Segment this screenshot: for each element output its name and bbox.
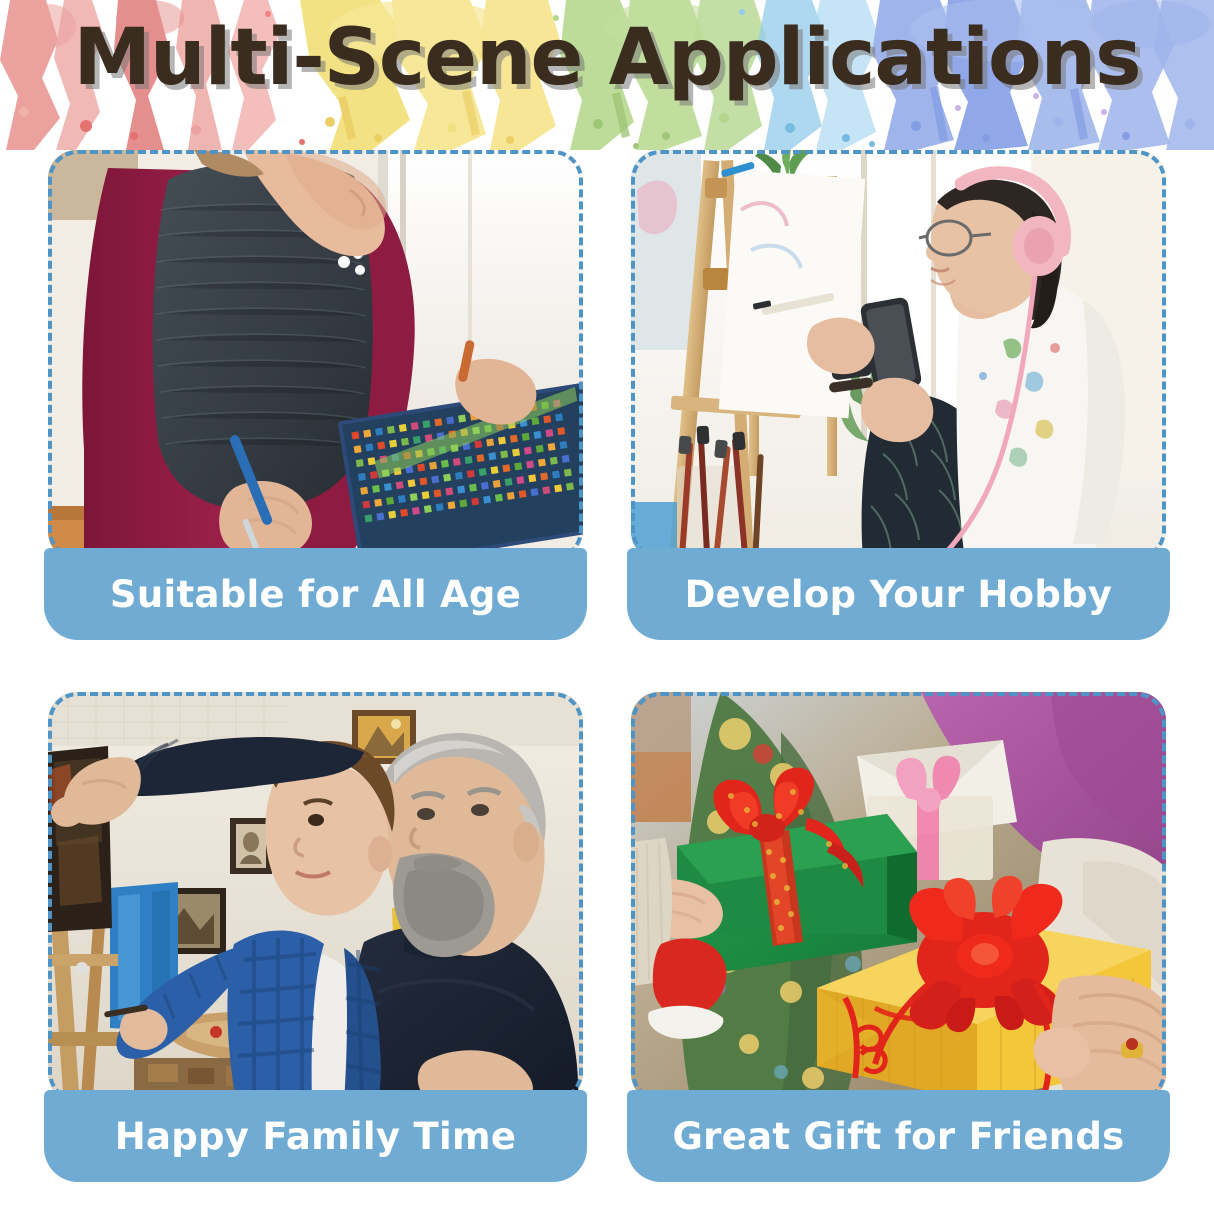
scene-card-great-gift-for-friends[interactable]: Great Gift for Friends (627, 692, 1170, 1184)
photo-grandfather-and-boy-painting (48, 692, 583, 1102)
caption-suitable-for-all-age: Suitable for All Age (44, 548, 587, 640)
caption-great-gift-for-friends: Great Gift for Friends (627, 1090, 1170, 1182)
poster-root: Multi-Scene Applications (0, 0, 1214, 1214)
caption-happy-family-time: Happy Family Time (44, 1090, 587, 1182)
photo-christmas-gift-exchange (631, 692, 1166, 1102)
page-title: Multi-Scene Applications (0, 14, 1214, 104)
scene-card-happy-family-time[interactable]: Happy Family Time (44, 692, 587, 1184)
scene-card-develop-your-hobby[interactable]: Develop Your Hobby (627, 150, 1170, 642)
scene-card-grid: Suitable for All Age (44, 150, 1170, 1184)
caption-develop-your-hobby: Develop Your Hobby (627, 548, 1170, 640)
photo-young-woman-painting-easel (631, 150, 1166, 560)
scene-card-suitable-for-all-age[interactable]: Suitable for All Age (44, 150, 587, 642)
photo-elderly-woman-diamond-painting (48, 150, 583, 560)
